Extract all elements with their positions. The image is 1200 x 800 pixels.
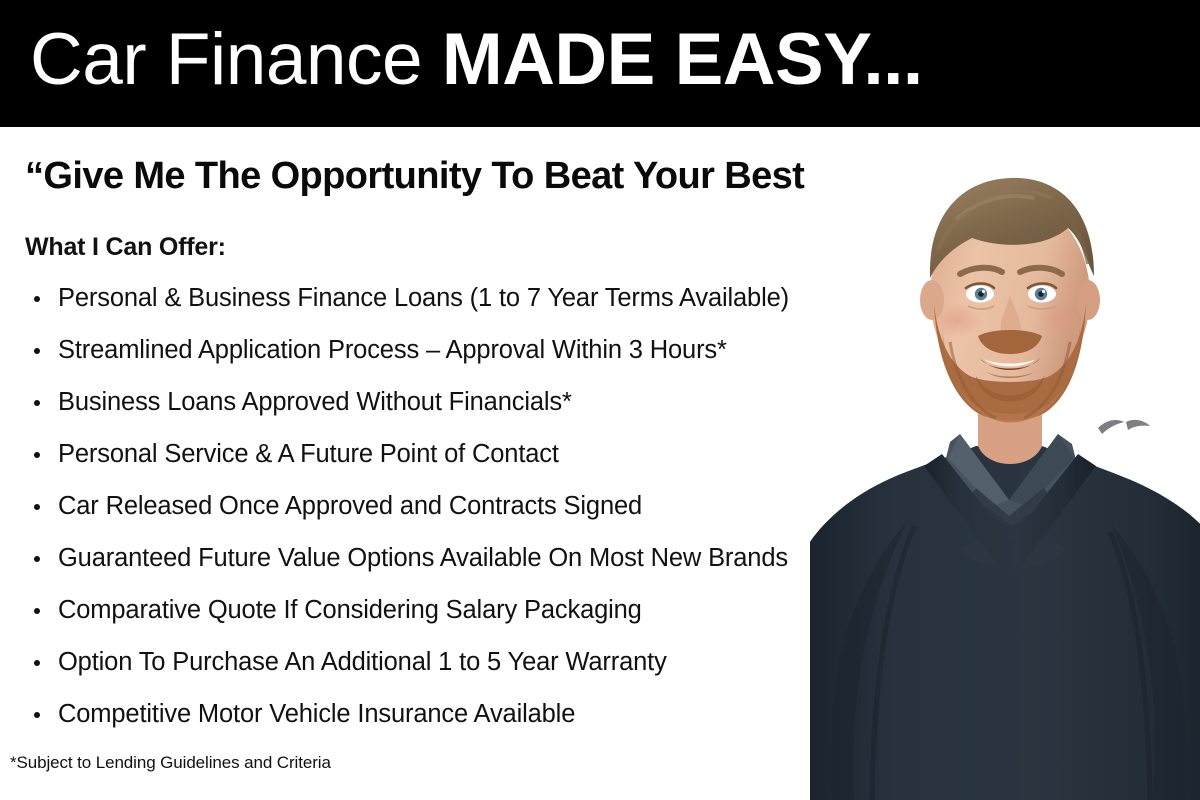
list-item: Streamlined Application Process – Approv… (30, 324, 890, 376)
bullet-icon (34, 660, 40, 666)
offers-subheading: What I Can Offer: (25, 232, 226, 262)
bullet-icon (34, 296, 40, 302)
list-item-label: Business Loans Approved Without Financia… (58, 388, 572, 416)
list-item-label: Guaranteed Future Value Options Availabl… (58, 544, 788, 572)
list-item-label: Car Released Once Approved and Contracts… (58, 492, 642, 520)
list-item: Personal Service & A Future Point of Con… (30, 428, 890, 480)
list-item-label: Personal Service & A Future Point of Con… (58, 440, 559, 468)
page-title-bold: MADE EASY... (442, 19, 923, 100)
cheek-right (1038, 303, 1086, 337)
bullet-icon (34, 348, 40, 354)
list-item-label: Comparative Quote If Considering Salary … (58, 596, 642, 624)
bullet-icon (34, 400, 40, 406)
offer-list: Personal & Business Finance Loans (1 to … (30, 272, 890, 740)
list-item-label: Streamlined Application Process – Approv… (58, 336, 727, 364)
list-item: Comparative Quote If Considering Salary … (30, 584, 890, 636)
poster-canvas: Car Finance MADE EASY... “Give Me The Op… (0, 0, 1200, 800)
list-item: Car Released Once Approved and Contracts… (30, 480, 890, 532)
list-item: Guaranteed Future Value Options Availabl… (30, 532, 890, 584)
bullet-icon (34, 712, 40, 718)
list-item-label: Personal & Business Finance Loans (1 to … (58, 284, 789, 312)
bullet-icon (34, 608, 40, 614)
list-item: Option To Purchase An Additional 1 to 5 … (30, 636, 890, 688)
page-title: Car Finance MADE EASY... (30, 14, 923, 106)
list-item: Competitive Motor Vehicle Insurance Avai… (30, 688, 890, 740)
list-item-label: Competitive Motor Vehicle Insurance Avai… (58, 700, 575, 728)
page-title-light: Car Finance (30, 19, 442, 100)
bullet-icon (34, 504, 40, 510)
list-item-label: Option To Purchase An Additional 1 to 5 … (58, 648, 667, 676)
bullet-icon (34, 556, 40, 562)
cheek-left (934, 303, 982, 337)
list-item: Business Loans Approved Without Financia… (30, 376, 890, 428)
list-item: Personal & Business Finance Loans (1 to … (30, 272, 890, 324)
bullet-icon (34, 452, 40, 458)
header-band: Car Finance MADE EASY... (0, 0, 1200, 127)
footnote-disclaimer: *Subject to Lending Guidelines and Crite… (10, 752, 331, 774)
